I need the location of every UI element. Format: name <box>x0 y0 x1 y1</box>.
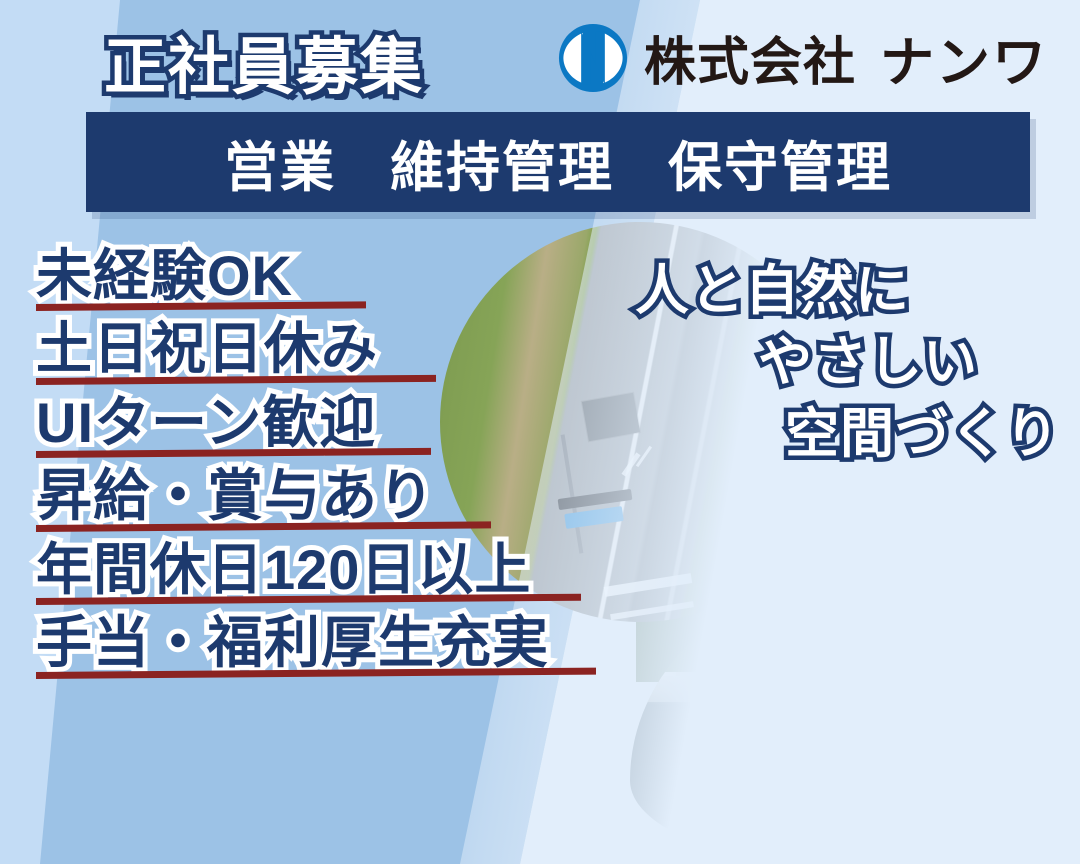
benefit-item: 昇給・賞与あり <box>36 466 636 531</box>
benefit-item: 年間休日120日以上 <box>36 540 636 605</box>
benefit-label: 土日祝日休み <box>36 319 636 379</box>
benefit-underline <box>36 302 366 312</box>
company-tagline: 人と自然に やさしい 空間づくり <box>560 256 1060 470</box>
recruitment-poster: 正社員募集 株式会社 ナンワ 営業 維持管理 保守管理 未経験OK 土日祝日休み… <box>0 0 1080 864</box>
benefit-item: 土日祝日休み <box>36 319 636 384</box>
company-logo: 株式会社 ナンワ <box>556 18 1048 97</box>
benefit-label: 未経験OK <box>36 246 636 306</box>
benefit-label: 年間休日120日以上 <box>36 540 636 600</box>
job-category-facility-upkeep: 保守管理 <box>668 123 892 202</box>
benefit-underline <box>36 448 431 458</box>
benefit-item: 手当・福利厚生充実 <box>36 613 636 678</box>
tagline-line-1: 人と自然に <box>560 256 1060 327</box>
company-legal-form: 株式会社 <box>644 20 856 95</box>
benefit-item: 未経験OK <box>36 246 636 311</box>
nanwa-n-circle-logo-icon <box>556 21 630 95</box>
benefit-label: 手当・福利厚生充実 <box>36 613 636 673</box>
tagline-line-3: 空間づくり <box>560 399 1060 470</box>
benefit-label: UIターン歓迎 <box>36 393 636 453</box>
job-category-maintenance-management: 維持管理 <box>390 123 614 202</box>
benefits-list: 未経験OK 土日祝日休み UIターン歓迎 昇給・賞与あり 年間休日120日以上 … <box>36 246 636 687</box>
job-categories-banner: 営業 維持管理 保守管理 <box>86 112 1030 212</box>
job-categories-list: 営業 維持管理 保守管理 <box>224 123 892 202</box>
company-brand-name: ナンワ <box>880 18 1048 97</box>
benefit-item: UIターン歓迎 <box>36 393 636 458</box>
benefit-label: 昇給・賞与あり <box>36 466 636 526</box>
page-title: 正社員募集 <box>104 16 424 106</box>
tagline-line-2: やさしい <box>560 327 1060 398</box>
job-category-sales: 営業 <box>224 123 336 202</box>
